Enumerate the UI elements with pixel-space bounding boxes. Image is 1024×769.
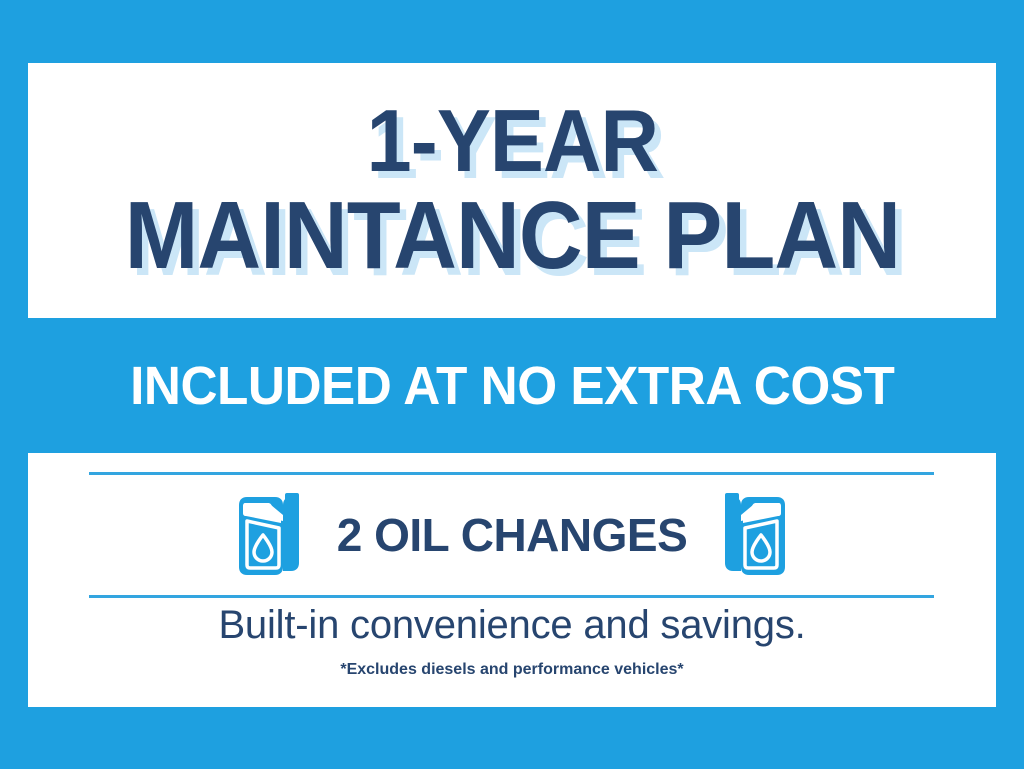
- headline-card: 1-YEAR MAINTANCE PLAN: [28, 63, 996, 318]
- details-card: 2 OIL CHANGES Built-in convenience and s…: [28, 453, 996, 707]
- promotional-poster: 1-YEAR MAINTANCE PLAN INCLUDED AT NO EXT…: [0, 0, 1024, 769]
- tagline-text: Built-in convenience and savings.: [28, 603, 996, 648]
- subheading-band: INCLUDED AT NO EXTRA COST: [0, 318, 1024, 453]
- feature-label: 2 OIL CHANGES: [337, 508, 688, 562]
- headline-line-1: 1-YEAR: [366, 99, 657, 183]
- subheading-text: INCLUDED AT NO EXTRA COST: [130, 355, 894, 417]
- oil-can-icon-left: [231, 491, 303, 579]
- oil-can-icon-right: [721, 491, 793, 579]
- fine-print-text: *Excludes diesels and performance vehicl…: [28, 661, 996, 679]
- headline-line-2: MAINTANCE PLAN: [124, 190, 899, 282]
- divider-bottom: [89, 595, 934, 598]
- feature-row: 2 OIL CHANGES: [28, 475, 996, 595]
